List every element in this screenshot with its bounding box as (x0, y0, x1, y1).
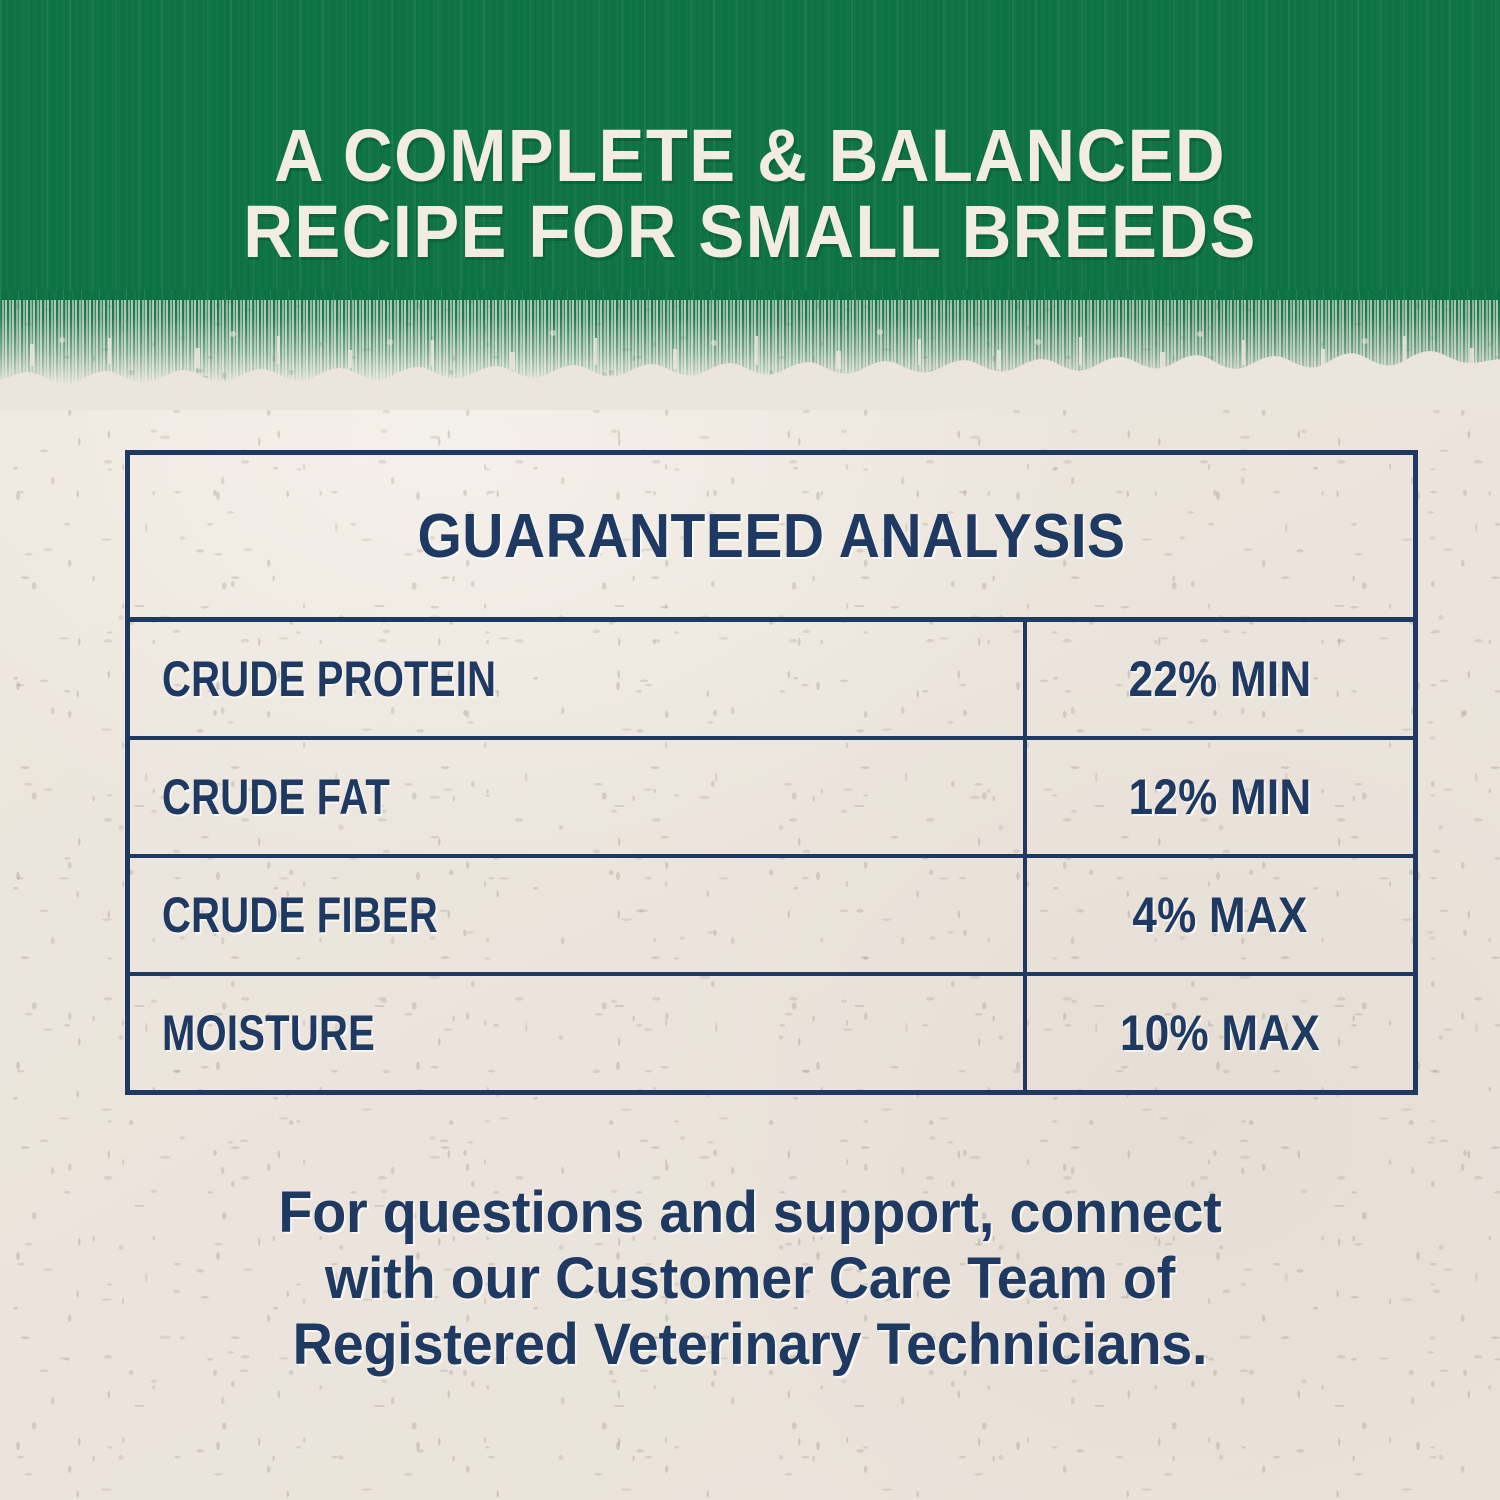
nutrient-label: CRUDE FIBER (130, 886, 844, 944)
column-divider (1023, 976, 1027, 1090)
page-headline: A COMPLETE & BALANCED RECIPE FOR SMALL B… (53, 118, 1448, 270)
nutrient-label: CRUDE FAT (130, 768, 844, 826)
nutrient-value: 12% MIN (1050, 768, 1390, 826)
guaranteed-analysis-title: GUARANTEED ANALYSIS (181, 455, 1361, 617)
table-row: CRUDE FIBER 4% MAX (130, 858, 1413, 976)
column-divider (1023, 858, 1027, 972)
table-row: CRUDE FAT 12% MIN (130, 740, 1413, 858)
nutrient-label: MOISTURE (130, 1004, 844, 1062)
nutrient-value: 10% MAX (1050, 1004, 1390, 1062)
nutrient-label: CRUDE PROTEIN (130, 650, 844, 708)
column-divider (1023, 740, 1027, 854)
table-row: MOISTURE 10% MAX (130, 976, 1413, 1090)
nutrient-value: 22% MIN (1050, 650, 1390, 708)
guaranteed-analysis-table: GUARANTEED ANALYSIS CRUDE PROTEIN 22% MI… (125, 450, 1418, 1095)
product-packaging-panel: A COMPLETE & BALANCED RECIPE FOR SMALL B… (0, 0, 1500, 1500)
green-band-torn-edge (0, 300, 1500, 410)
nutrient-value: 4% MAX (1050, 886, 1390, 944)
green-header-band: A COMPLETE & BALANCED RECIPE FOR SMALL B… (0, 0, 1500, 410)
guaranteed-analysis-rows: CRUDE PROTEIN 22% MIN CRUDE FAT 12% MIN … (130, 617, 1413, 1090)
column-divider (1023, 622, 1027, 736)
customer-care-note: For questions and support, connect with … (136, 1180, 1365, 1378)
table-row: CRUDE PROTEIN 22% MIN (130, 622, 1413, 740)
